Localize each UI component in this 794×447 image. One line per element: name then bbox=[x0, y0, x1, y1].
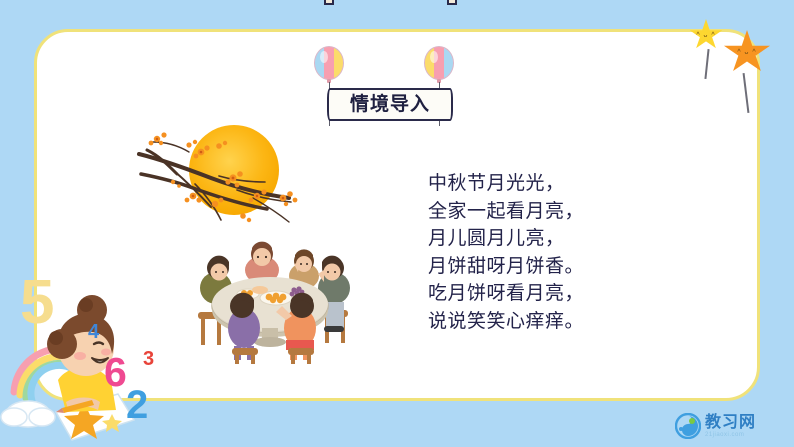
watermark: 教习网 21jiaoxi.com bbox=[675, 411, 783, 441]
star-icon: ^ ᴗ ^ bbox=[689, 19, 723, 51]
watermark-subtitle: 21jiaoxi.com bbox=[705, 432, 756, 438]
star-face-yellow: ^ ᴗ ^ bbox=[689, 32, 723, 39]
poem-line: 吃月饼呀看月亮， bbox=[428, 280, 584, 308]
moon-scene-svg bbox=[133, 112, 333, 230]
watermark-logo-icon bbox=[675, 413, 701, 439]
deco-number-2: 2 bbox=[126, 385, 148, 425]
poem-line: 说说笑笑心痒痒。 bbox=[428, 308, 584, 336]
moon-and-branch-illustration bbox=[133, 112, 333, 230]
deco-number-6: 6 bbox=[104, 352, 127, 393]
family-scene-svg bbox=[176, 236, 364, 364]
star-balloon-yellow: ^ ᴗ ^ bbox=[689, 19, 723, 51]
star-face-orange: ^ ᴗ ^ bbox=[723, 49, 771, 56]
watermark-title: 教习网 bbox=[705, 415, 756, 431]
deco-number-4: 4 bbox=[88, 322, 99, 342]
balloon-left bbox=[314, 46, 344, 80]
star-balloon-orange: ^ ᴗ ^ bbox=[723, 30, 771, 75]
banner-curl-left bbox=[324, 0, 334, 5]
star-icon: ^ ᴗ ^ bbox=[723, 30, 771, 75]
family-dinner-illustration bbox=[176, 236, 364, 364]
watermark-text: 教习网 21jiaoxi.com bbox=[705, 415, 756, 438]
poem-line: 中秋节月光光， bbox=[428, 170, 584, 198]
balloon-body bbox=[424, 46, 454, 80]
poem-line: 月儿圆月儿亮， bbox=[428, 225, 584, 253]
poem-text-block: 中秋节月光光， 全家一起看月亮， 月儿圆月儿亮， 月饼甜呀月饼香。 吃月饼呀看月… bbox=[428, 170, 584, 335]
section-title-banner: 情境导入 bbox=[327, 88, 453, 121]
balloon-body bbox=[314, 46, 344, 80]
banner-curl-right bbox=[447, 0, 457, 5]
deco-number-3: 3 bbox=[143, 349, 154, 369]
balloon-right bbox=[424, 46, 454, 80]
poem-line: 月饼甜呀月饼香。 bbox=[428, 253, 584, 281]
section-title-text: 情境导入 bbox=[350, 95, 430, 114]
slide-canvas: 情境导入 ^ ᴗ ^ ^ ᴗ ^ bbox=[0, 0, 794, 447]
poem-line: 全家一起看月亮， bbox=[428, 198, 584, 226]
